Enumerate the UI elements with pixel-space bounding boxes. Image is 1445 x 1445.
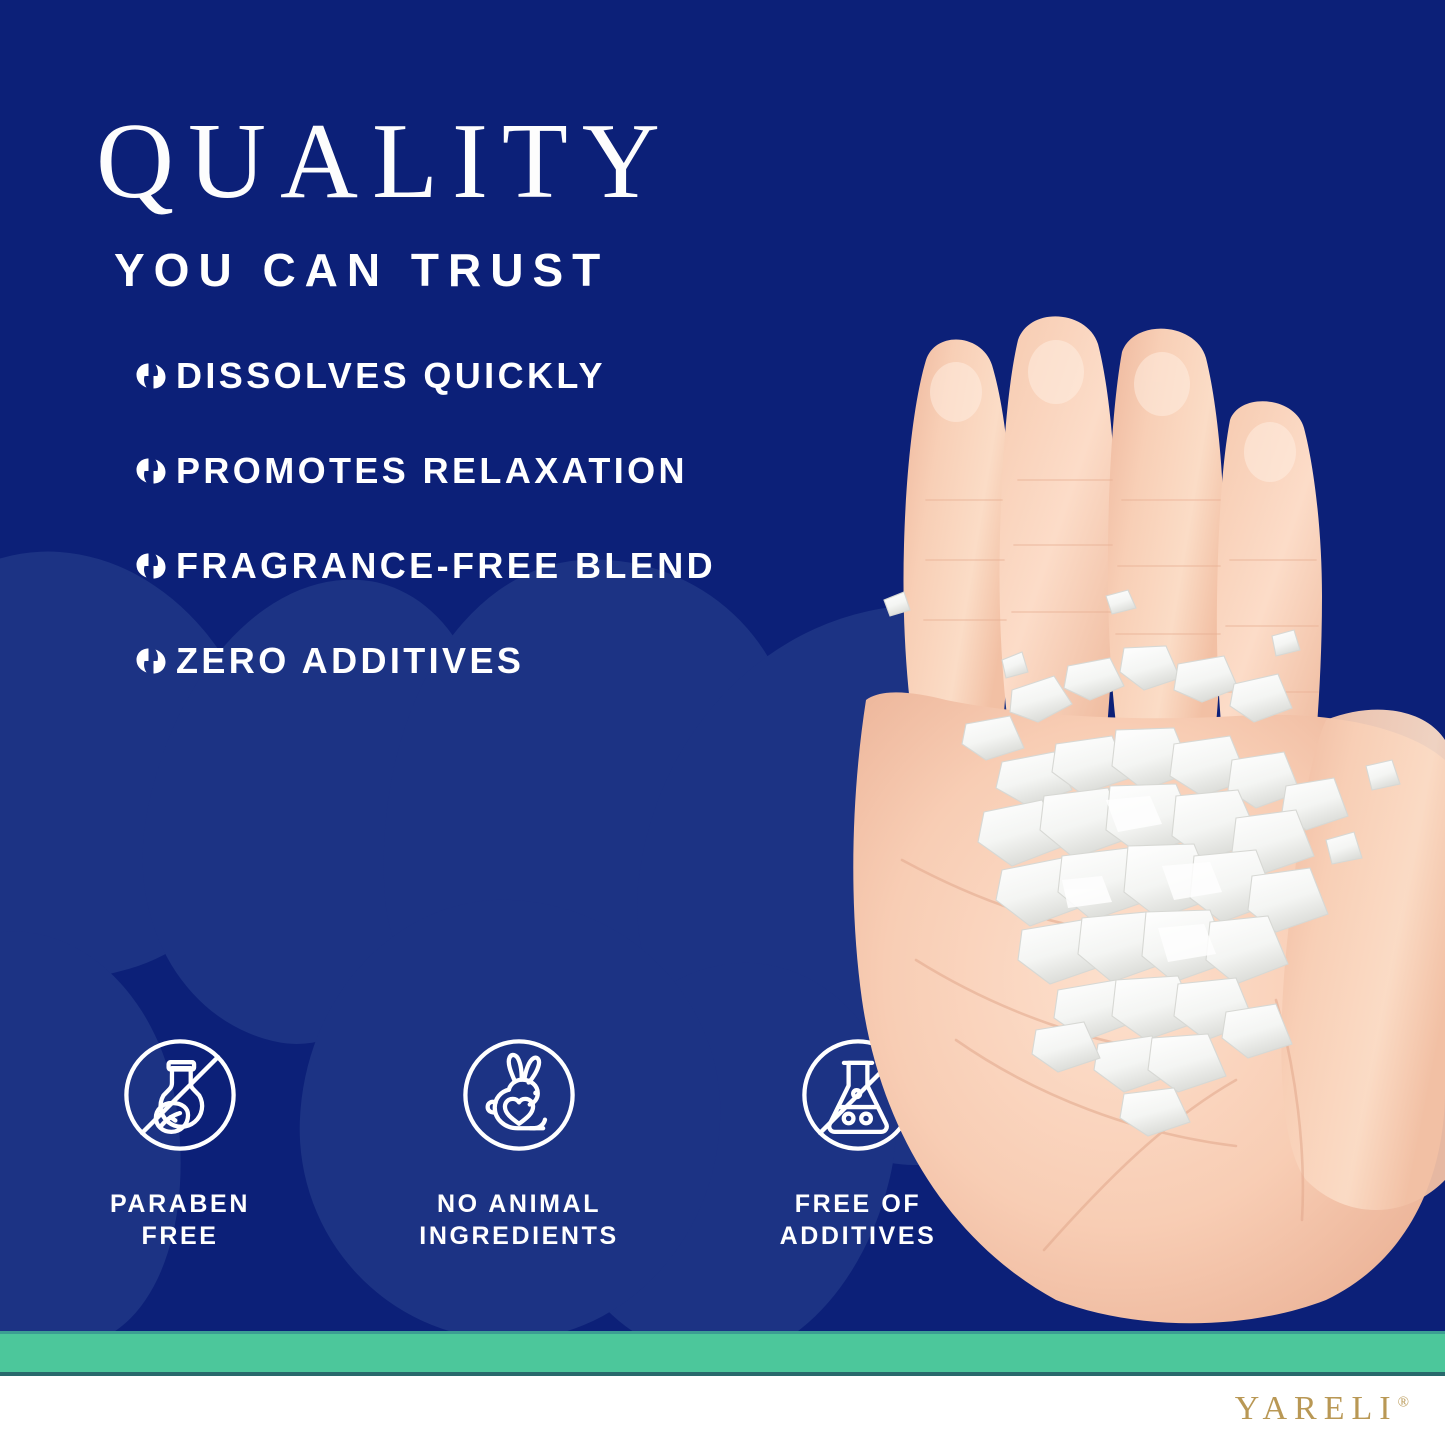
brand-logo: YARELI®: [1235, 1390, 1409, 1428]
footer-bar: [0, 1376, 1445, 1445]
list-item: DISSOLVES QUICKLY: [132, 352, 912, 400]
list-item: ZERO ADDITIVES: [132, 637, 912, 685]
list-item-label: FRAGRANCE-FREE BLEND: [176, 545, 716, 587]
badge-no-animal-ingredients: NO ANIMAL INGREDIENTS: [421, 1028, 617, 1252]
cruelty-free-rabbit-heart-icon: [452, 1028, 586, 1162]
list-item: PROMOTES RELAXATION: [132, 447, 912, 495]
badge-label-line2: INGREDIENTS: [419, 1222, 618, 1250]
benefits-list: DISSOLVES QUICKLY PROMOTES RELAXATION: [132, 352, 912, 732]
no-paraben-flask-leaf-icon: [113, 1028, 247, 1162]
badge-label: NO ANIMAL INGREDIENTS: [419, 1188, 618, 1252]
double-crescent-bullet-icon: [132, 644, 170, 678]
badge-paraben-free: PARABEN FREE: [82, 1028, 278, 1252]
navy-background-panel: QUALITY YOU CAN TRUST DISSOLVES QUICKLY: [0, 0, 1445, 1331]
double-crescent-bullet-icon: [132, 454, 170, 488]
list-item-label: DISSOLVES QUICKLY: [176, 355, 606, 397]
badge-label-line2: FREE: [141, 1222, 218, 1250]
registered-trademark-mark: ®: [1398, 1395, 1409, 1411]
list-item-label: PROMOTES RELAXATION: [176, 450, 688, 492]
brand-name: YARELI: [1235, 1390, 1398, 1427]
green-divider-bar: [0, 1331, 1445, 1376]
product-photo-hand-with-flakes: [806, 0, 1445, 1331]
list-item-label: ZERO ADDITIVES: [176, 640, 524, 682]
double-crescent-bullet-icon: [132, 549, 170, 583]
double-crescent-bullet-icon: [132, 359, 170, 393]
page-subtitle: YOU CAN TRUST: [114, 243, 609, 297]
page-title: QUALITY: [96, 108, 674, 216]
list-item: FRAGRANCE-FREE BLEND: [132, 542, 912, 590]
badge-label-line1: PARABEN: [110, 1190, 250, 1218]
product-infographic: QUALITY YOU CAN TRUST DISSOLVES QUICKLY: [0, 0, 1445, 1445]
badge-label-line1: NO ANIMAL: [437, 1190, 601, 1218]
badge-label: PARABEN FREE: [110, 1188, 250, 1252]
